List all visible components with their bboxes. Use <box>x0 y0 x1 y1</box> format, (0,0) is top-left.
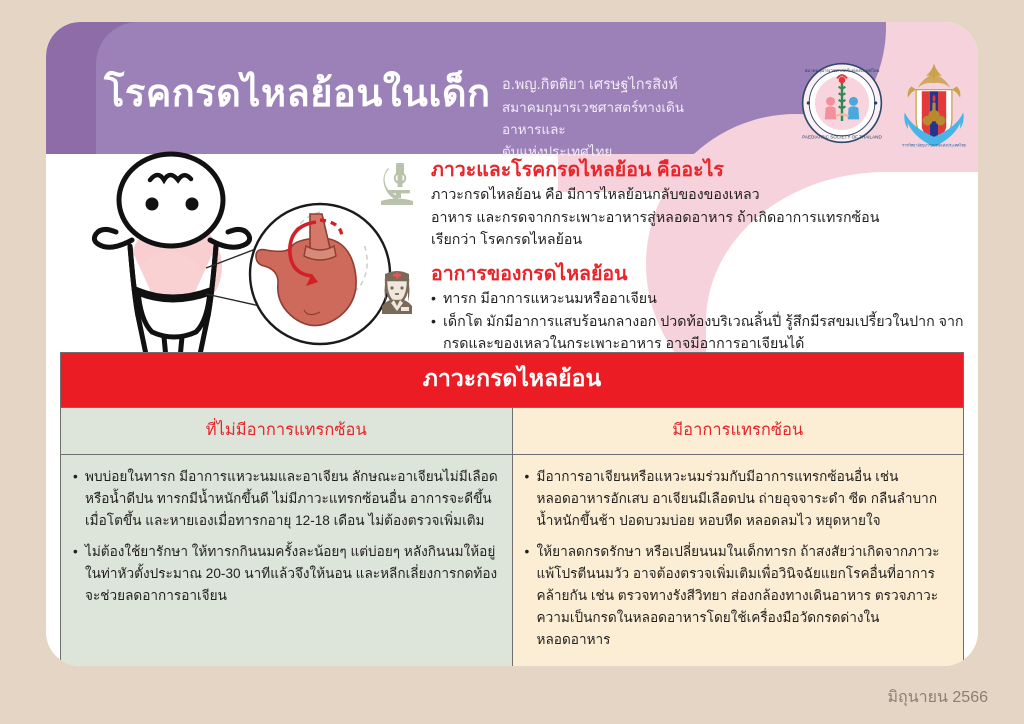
footer-date: มิถุนายน 2566 <box>887 685 988 710</box>
body-line: ภาวะกรดไหลย้อน คือ มีการไหลย้อนกลับของขอ… <box>431 184 879 206</box>
body-line: เรียกว่า โรคกรดไหลย้อน <box>431 229 879 251</box>
bullet-dot: • <box>431 288 438 310</box>
bullet-text: ให้ยาลดกรดรักษา หรือเปลี่ยนนมในเด็กทารก … <box>537 541 952 651</box>
table-header-row: ที่ไม่มีอาการแทรกซ้อน มีอาการแทรกซ้อน <box>61 408 964 455</box>
bullet-text: ทารก มีอาการแหวะนมหรืออาเจียน <box>443 288 657 310</box>
left-eye <box>146 198 159 211</box>
microscope-icon <box>376 158 420 251</box>
section-body: ภาวะกรดไหลย้อน คือ มีการไหลย้อนกลับของขอ… <box>431 184 879 250</box>
right-eye <box>186 198 199 211</box>
poster-card: โรคกรดไหลย้อนในเด็ก อ.พญ.กิตติยา เศรษฐไก… <box>46 22 978 666</box>
bullet-item: • มีอาการอาเจียนหรือแหวะนมร่วมกับมีอาการ… <box>525 466 952 532</box>
bullet-item: • เด็กโต มักมีอาการแสบร้อนกลางอก ปวดท้อง… <box>431 311 966 355</box>
table-body-row: • พบบ่อยในทารก มีอาการแหวะนมและอาเจียน ล… <box>61 455 964 667</box>
bullet-item: • พบบ่อยในทารก มีอาการแหวะนมและอาเจียน ล… <box>73 466 500 532</box>
table-title: ภาวะกรดไหลย้อน <box>61 353 964 408</box>
seal-ring-text-bottom: PAEDIATRIC SOCIETY OF THAILAND <box>802 134 882 139</box>
body-line: อาหาร และกรดจากกระเพาะอาหารสู่หลอดอาหาร … <box>431 207 879 229</box>
royal-college-of-pediatricians-emblem: ราชวิทยาลัยกุมารแพทย์แห่งประเทศไทย <box>893 62 975 158</box>
section-definition: ภาวะและโรคกรดไหลย้อน คืออะไร ภาวะกรดไหลย… <box>376 158 956 251</box>
author-byline: อ.พญ.กิตติยา เศรษฐไกรสิงห์ สมาคมกุมารเวช… <box>502 74 712 163</box>
table-title-row: ภาวะกรดไหลย้อน <box>61 353 964 408</box>
affiliation-line-2: ตับแห่งประเทศไทย <box>502 141 712 163</box>
section-heading: อาการของกรดไหลย้อน <box>431 262 966 286</box>
bullet-item: • ทารก มีอาการแหวะนมหรืออาเจียน <box>431 288 966 310</box>
column-header-with-complication: มีอาการแทรกซ้อน <box>512 408 964 455</box>
page-title: โรคกรดไหลย้อนในเด็ก <box>104 62 491 123</box>
bullet-text: เด็กโต มักมีอาการแสบร้อนกลางอก ปวดท้องบร… <box>443 311 966 355</box>
bullet-text: มีอาการอาเจียนหรือแหวะนมร่วมกับมีอาการแท… <box>537 466 952 532</box>
column-body-no-complication: • พบบ่อยในทารก มีอาการแหวะนมและอาเจียน ล… <box>61 455 513 667</box>
section-symptoms: อาการของกรดไหลย้อน • ทารก มีอาการแหวะนมห… <box>376 262 966 355</box>
author-name: อ.พญ.กิตติยา เศรษฐไกรสิงห์ <box>502 74 712 97</box>
bullet-item: • ไม่ต้องใช้ยารักษา ให้ทารกกินนมครั้งละน… <box>73 541 500 607</box>
emblem-ring-text: ราชวิทยาลัยกุมารแพทย์แห่งประเทศไทย <box>902 143 966 149</box>
logo-group: สมาคมกุมารเวชศาสตร์แห่งประเทศไทย PAEDIAT… <box>801 62 975 158</box>
stomach-reflux-diagram <box>250 204 390 344</box>
bullet-dot: • <box>525 541 532 651</box>
bullet-item: • ให้ยาลดกรดรักษา หรือเปลี่ยนนมในเด็กทาร… <box>525 541 952 651</box>
section-body: • ทารก มีอาการแหวะนมหรืออาเจียน • เด็กโต… <box>431 288 966 354</box>
bullet-dot: • <box>73 466 80 532</box>
nurse-icon <box>376 262 420 355</box>
bullet-dot: • <box>73 541 80 607</box>
column-body-with-complication: • มีอาการอาเจียนหรือแหวะนมร่วมกับมีอาการ… <box>512 455 964 667</box>
reflux-illustration <box>58 142 398 382</box>
bullet-text: ไม่ต้องใช้ยารักษา ให้ทารกกินนมครั้งละน้อ… <box>85 541 500 607</box>
bullet-dot: • <box>525 466 532 532</box>
bullet-dot: • <box>431 311 438 355</box>
column-header-no-complication: ที่ไม่มีอาการแทรกซ้อน <box>61 408 513 455</box>
affiliation-line-1: สมาคมกุมารเวชศาสตร์ทางเดินอาหารและ <box>502 97 712 141</box>
paediatric-society-of-thailand-seal: สมาคมกุมารเวชศาสตร์แห่งประเทศไทย PAEDIAT… <box>801 62 883 144</box>
bullet-text: พบบ่อยในทารก มีอาการแหวะนมและอาเจียน ลัก… <box>85 466 500 532</box>
reflux-comparison-table: ภาวะกรดไหลย้อน ที่ไม่มีอาการแทรกซ้อน มีอ… <box>60 352 964 666</box>
